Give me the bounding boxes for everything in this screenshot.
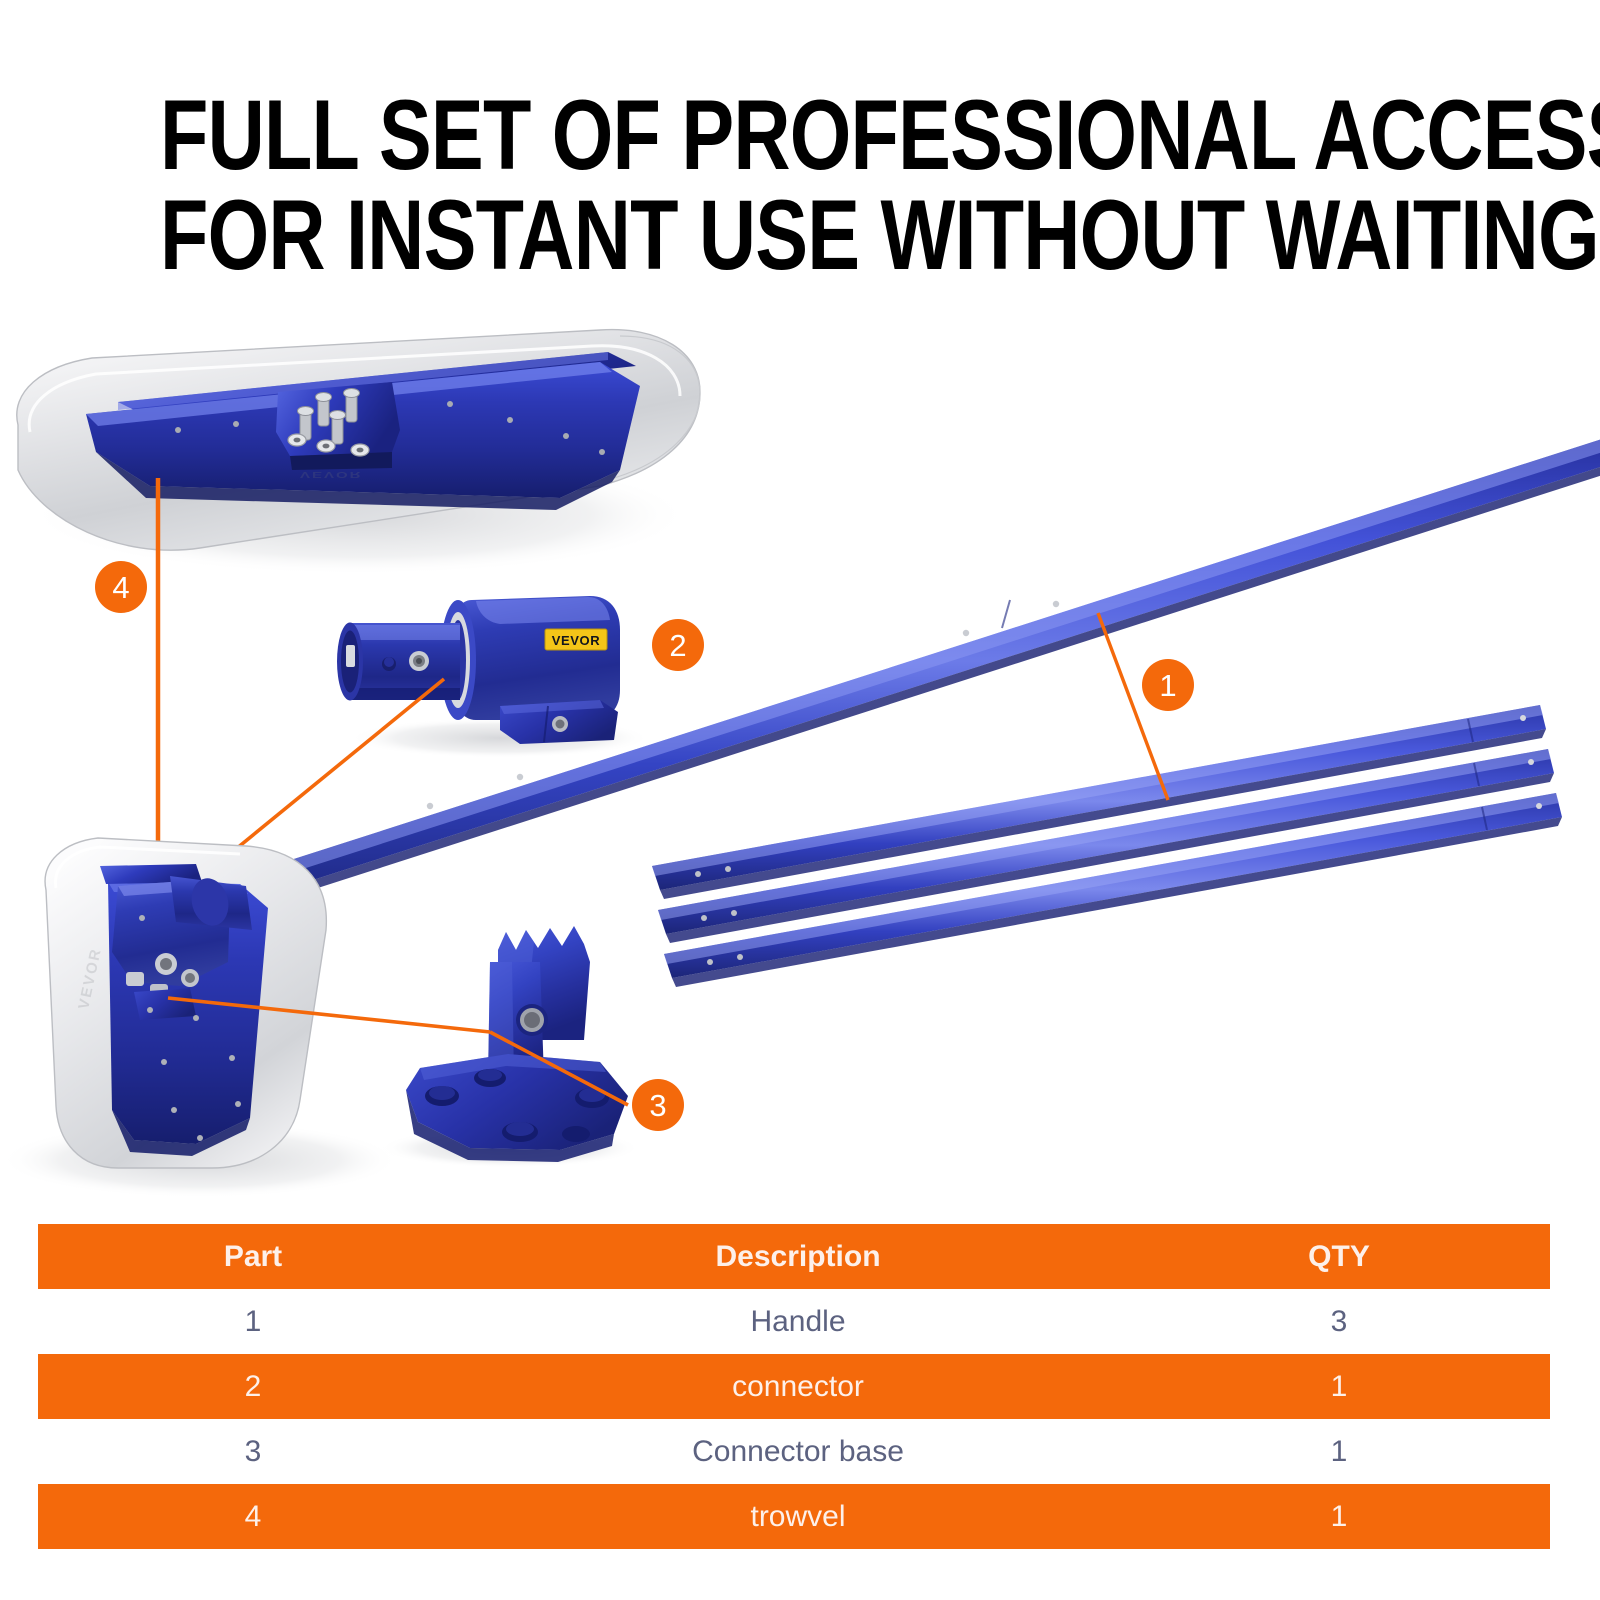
column-header-qty: QTY [1128,1224,1550,1289]
table-row: 1 Handle 3 [38,1289,1550,1354]
table-row: 4 trowvel 1 [38,1484,1550,1549]
callout-badge-2[interactable]: 2 [652,619,704,671]
cell-part: 4 [38,1484,468,1549]
parts-table: Part Description QTY 1 Handle 3 2 connec… [38,1224,1550,1549]
callout-badge-1[interactable]: 1 [1142,659,1194,711]
callout-badge-3[interactable]: 3 [632,1079,684,1131]
cell-description: Connector base [468,1419,1128,1484]
table-row: 2 connector 1 [38,1354,1550,1419]
column-header-description: Description [468,1224,1128,1289]
svg-text:VEVOR: VEVOR [552,633,601,648]
cell-description: connector [468,1354,1128,1419]
table-header-row: Part Description QTY [38,1224,1550,1289]
trowel-assembly: VEVOR [0,838,400,1198]
cell-part: 2 [38,1354,468,1419]
connector-base-part [380,926,640,1168]
table-row: 3 Connector base 1 [38,1419,1550,1484]
cell-description: trowvel [468,1484,1128,1549]
cell-qty: 1 [1128,1484,1550,1549]
column-header-part: Part [38,1224,468,1289]
cell-qty: 3 [1128,1289,1550,1354]
parts-table-header: Part Description QTY [38,1224,1550,1289]
cell-description: Handle [468,1289,1128,1354]
parts-table-body: 1 Handle 3 2 connector 1 3 Connector bas… [38,1289,1550,1549]
cell-qty: 1 [1128,1419,1550,1484]
cell-qty: 1 [1128,1354,1550,1419]
connector-part: VEVOR [337,596,650,758]
brand-label: VEVOR [545,629,607,650]
cell-part: 1 [38,1289,468,1354]
handle-poles-stack [652,705,1562,987]
infographic-canvas: FULL SET OF PROFESSIONAL ACCESSORIES FOR… [0,0,1600,1600]
svg-text:VEVOR: VEVOR [300,470,362,480]
cell-part: 3 [38,1419,468,1484]
trowel-blade-top: VEVOR [17,330,700,575]
callout-badge-4[interactable]: 4 [95,561,147,613]
